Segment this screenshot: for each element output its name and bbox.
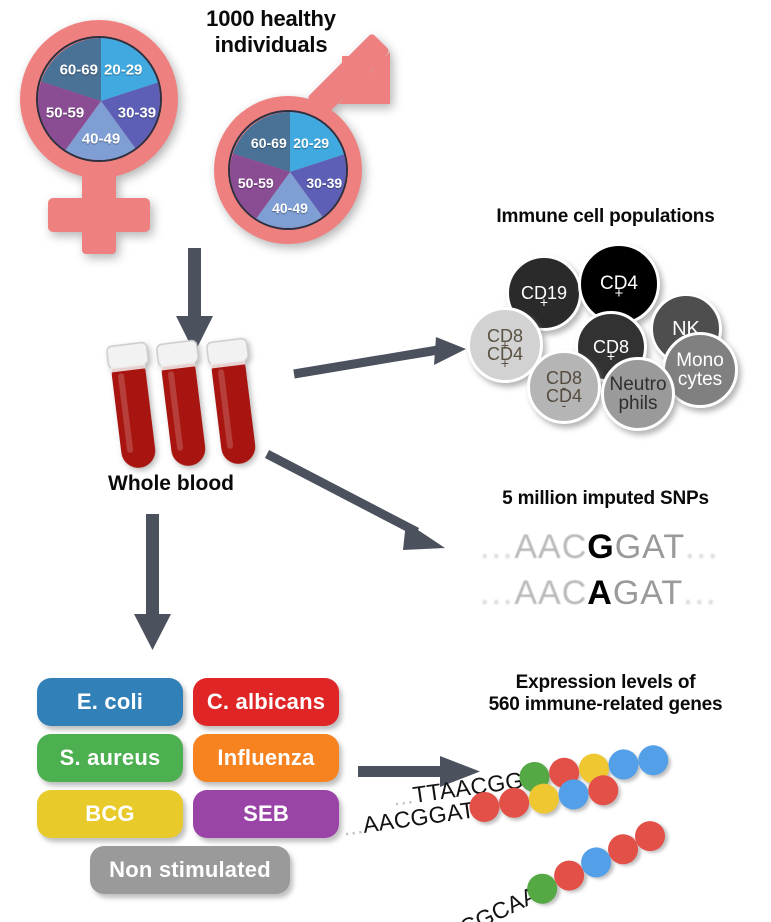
- female-symbol-cross: [48, 198, 150, 232]
- male-gender-symbol: 20-2930-3940-4950-5960-69: [206, 58, 406, 248]
- age-slice-label-30-39: 30-39: [118, 104, 156, 121]
- expression-bead: [549, 856, 589, 896]
- immune-cell-cd4[interactable]: CD4+: [578, 243, 660, 325]
- stimulus-label: SEB: [243, 801, 289, 827]
- immune-cell-nk[interactable]: NK: [650, 293, 722, 365]
- snp-trailing-ellipsis: ...: [685, 528, 719, 566]
- snp-flank-left: AAC: [514, 528, 587, 566]
- snp-variant-allele: G: [587, 528, 614, 566]
- expression-bead: [630, 816, 670, 856]
- snp-trailing-ellipsis: ...: [683, 574, 717, 612]
- strand-sequence: ...CACGCAA: [408, 881, 542, 922]
- immune-cell-cd19[interactable]: CD19+: [506, 255, 582, 331]
- snp-flank-right: GAT: [615, 528, 685, 566]
- stimulus-influenza[interactable]: Influenza: [193, 734, 339, 782]
- immune-cell-cd8-cd4[interactable]: CD8+CD4+: [467, 307, 543, 383]
- stimulus-label: C. albicans: [207, 689, 325, 715]
- blood-tubes-group: [104, 340, 274, 472]
- stimulus-label: Influenza: [217, 745, 314, 771]
- stimulus-e-coli[interactable]: E. coli: [37, 678, 183, 726]
- expression-bead: [467, 790, 501, 824]
- snp-sequence-row: ...AACGGAT...: [480, 528, 719, 567]
- immune-cell-label: NK: [672, 319, 700, 339]
- female-gender-symbol: 20-2930-3940-4950-5960-69: [10, 14, 190, 254]
- title-expression-line1: Expression levels of: [440, 672, 771, 694]
- snp-flank-right: GAT: [613, 574, 683, 612]
- title-individuals-line1: 1000 healthy: [168, 6, 374, 32]
- expression-bead: [586, 773, 620, 807]
- age-slice-label-40-49: 40-49: [272, 200, 308, 216]
- age-pie-chart-female: 20-2930-3940-4950-5960-69: [36, 36, 162, 162]
- title-expression-line2: 560 immune-related genes: [440, 694, 771, 716]
- age-slice-label-20-29: 20-29: [293, 135, 329, 151]
- arrow-stimuli-to-expression: [358, 750, 488, 794]
- strand-leading-ellipsis: ...: [341, 812, 365, 841]
- arrow-blood-to-stimuli: [130, 514, 176, 654]
- immune-cell-label: Neutrophils: [609, 375, 666, 414]
- expression-bead: [603, 829, 643, 869]
- age-pie-chart-male: 20-2930-3940-4950-5960-69: [228, 110, 348, 230]
- figure-canvas: 1000 healthy individuals 20-2930-3940-49…: [0, 0, 771, 922]
- title-immune-cell-populations: Immune cell populations: [440, 206, 771, 228]
- immune-cell-label: CD8-CD4-: [546, 369, 582, 406]
- age-slice-label-50-59: 50-59: [238, 175, 274, 191]
- immune-cell-label: CD8+CD4+: [487, 327, 523, 364]
- snp-flank-left: AAC: [514, 574, 587, 612]
- expression-bead: [636, 743, 670, 777]
- expression-bead: [557, 777, 591, 811]
- age-slice-label-30-39: 30-39: [306, 175, 342, 191]
- title-expression-levels: Expression levels of 560 immune-related …: [440, 672, 771, 717]
- age-slice-label-60-69: 60-69: [60, 62, 98, 79]
- stimulus-s-aureus[interactable]: S. aureus: [37, 734, 183, 782]
- stimulus-seb[interactable]: SEB: [193, 790, 339, 838]
- snp-leading-ellipsis: ...: [480, 528, 514, 566]
- stimulus-non-stimulated[interactable]: Non stimulated: [90, 846, 290, 894]
- stimulus-label: Non stimulated: [109, 857, 271, 883]
- immune-cell-label: CD8+: [593, 338, 629, 356]
- expression-bead: [577, 752, 611, 786]
- strand-bases: AACGGAT: [361, 796, 476, 837]
- immune-cell-label: Monocytes: [676, 351, 724, 390]
- expression-bead: [497, 786, 531, 820]
- expression-bead: [607, 747, 641, 781]
- age-slice-label-60-69: 60-69: [251, 135, 287, 151]
- male-symbol-arrowhead: [336, 50, 406, 120]
- arrow-blood-to-immune-cells: [292, 336, 472, 386]
- age-slice-label-50-59: 50-59: [46, 104, 84, 121]
- immune-cell-cd8[interactable]: CD8+: [575, 311, 647, 383]
- expression-bead: [522, 869, 562, 909]
- age-slice-label-40-49: 40-49: [82, 130, 120, 147]
- immune-cell-neutrophils[interactable]: Neutrophils: [601, 357, 675, 431]
- stimulus-bcg[interactable]: BCG: [37, 790, 183, 838]
- stimulus-c-albicans[interactable]: C. albicans: [193, 678, 339, 726]
- immune-cell-label: CD19+: [521, 284, 567, 302]
- immune-cell-label: CD4+: [600, 274, 638, 293]
- title-imputed-snps: 5 million imputed SNPs: [450, 488, 761, 510]
- strand-bases: CACGCAA: [426, 881, 542, 922]
- snp-variant-allele: A: [587, 574, 613, 612]
- stimulus-label: E. coli: [77, 689, 143, 715]
- stimulus-label: S. aureus: [60, 745, 161, 771]
- whole-blood-label: Whole blood: [86, 472, 256, 496]
- strand-sequence: ...AACGGAT: [341, 796, 476, 841]
- snp-leading-ellipsis: ...: [480, 574, 514, 612]
- arrow-blood-to-snps: [265, 450, 455, 560]
- stimulus-label: BCG: [85, 801, 135, 827]
- age-slice-label-20-29: 20-29: [104, 62, 142, 79]
- expression-bead: [527, 782, 561, 816]
- expression-bead: [547, 756, 581, 790]
- expression-bead: [517, 760, 551, 794]
- snp-sequence-block: ...AACGGAT......AACAGAT...: [480, 528, 750, 618]
- immune-cell-cd8-cd4[interactable]: CD8-CD4-: [527, 350, 601, 424]
- snp-sequence-row: ...AACAGAT...: [480, 574, 718, 613]
- immune-cell-monocytes[interactable]: Monocytes: [662, 332, 738, 408]
- expression-bead: [576, 842, 616, 882]
